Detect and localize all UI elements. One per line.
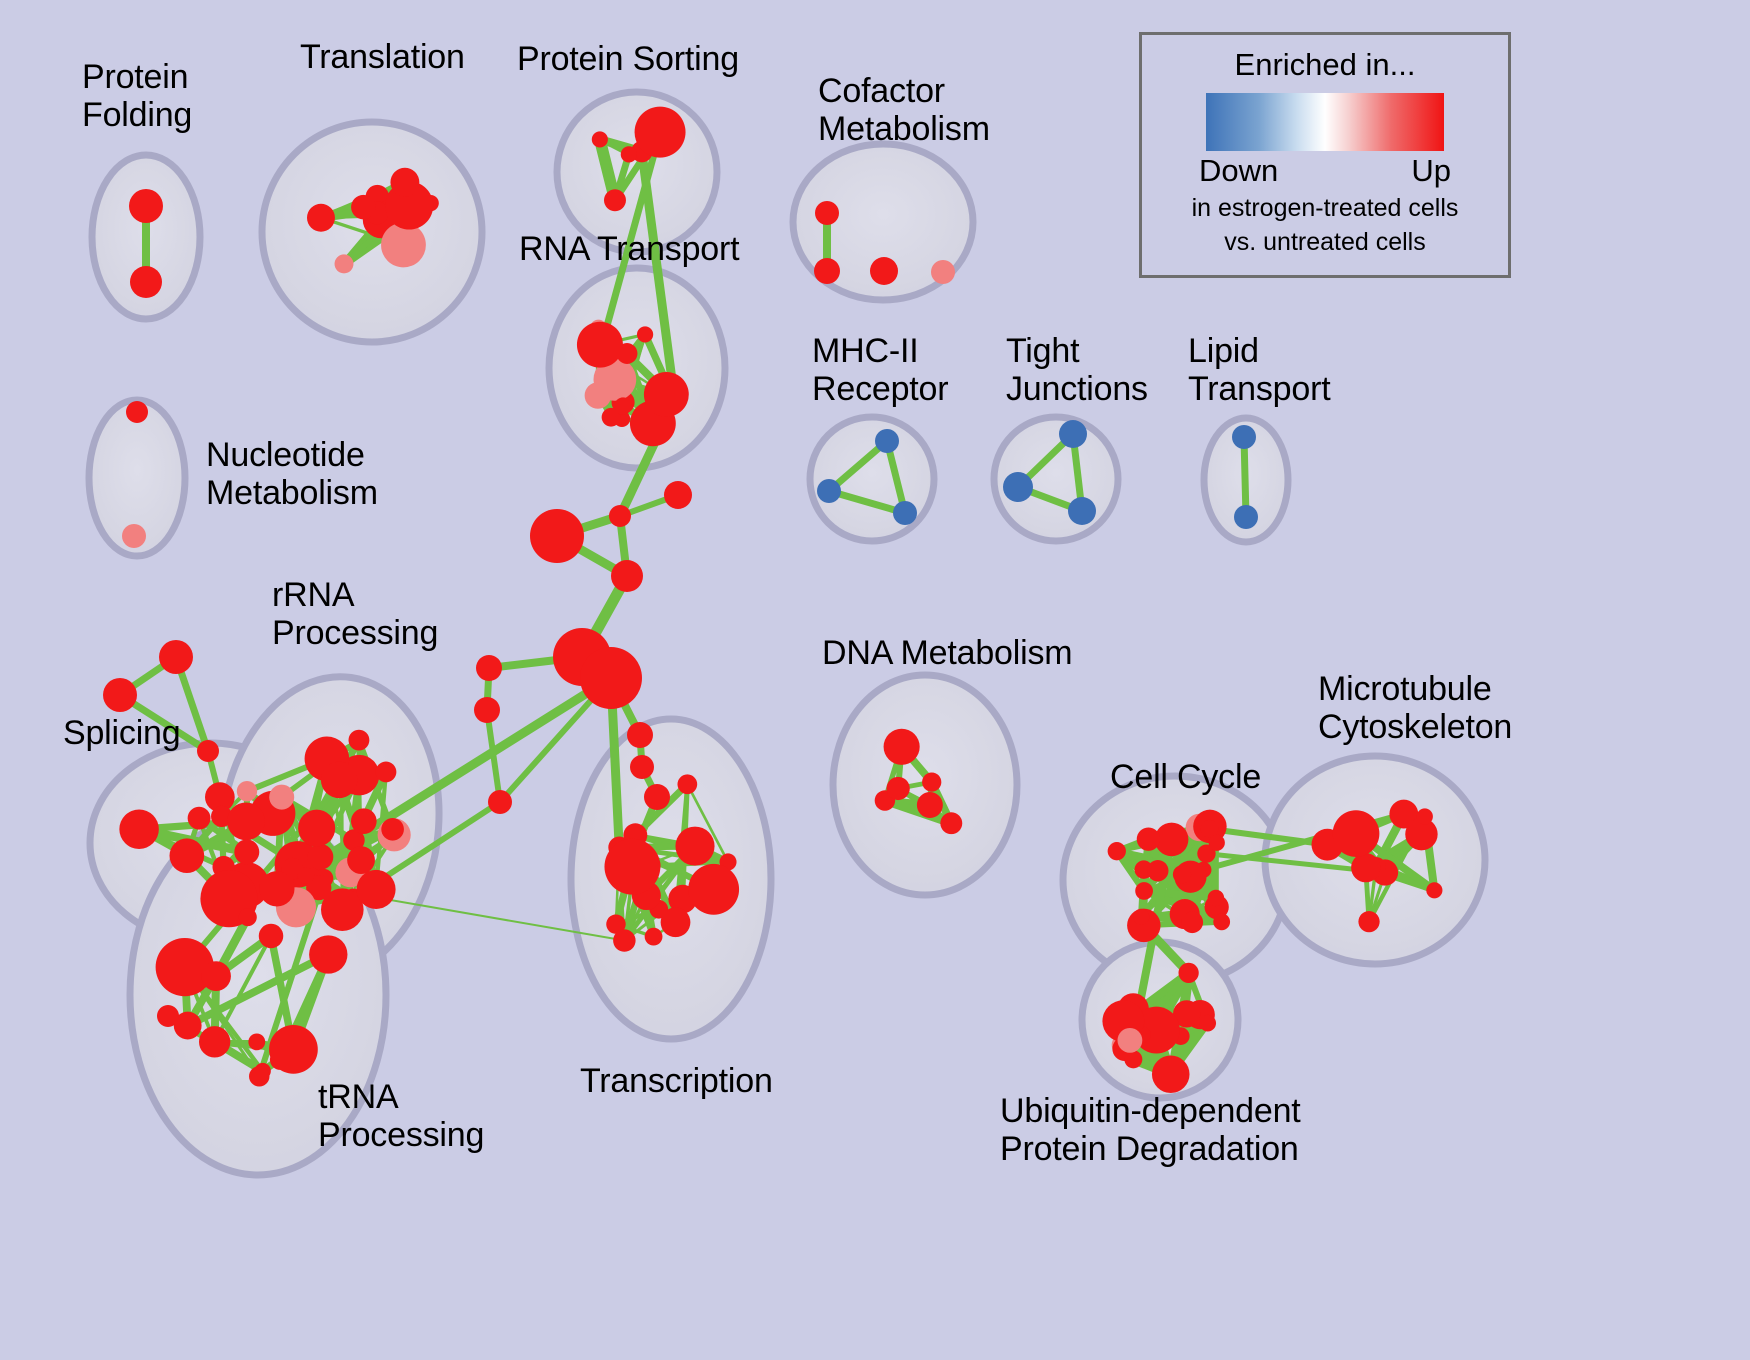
gene-set-node xyxy=(875,429,899,453)
cluster-label-cell-cycle: Cell Cycle xyxy=(1110,758,1261,796)
gene-set-node xyxy=(376,762,397,783)
gene-set-node xyxy=(197,740,219,762)
gene-set-node xyxy=(814,258,840,284)
gene-set-node xyxy=(199,1026,230,1057)
gene-set-node xyxy=(1426,882,1442,898)
gene-set-node xyxy=(1068,497,1096,525)
gene-set-node xyxy=(188,807,211,830)
gene-set-node xyxy=(677,774,697,794)
legend-panel: Enriched in... Down Up in estrogen-treat… xyxy=(1139,32,1511,278)
gene-set-node xyxy=(381,818,404,841)
gene-set-node xyxy=(1209,835,1225,851)
gene-set-node xyxy=(637,326,653,342)
gene-set-node xyxy=(887,777,910,800)
gene-set-node xyxy=(1147,860,1168,881)
gene-set-node xyxy=(1232,425,1256,449)
edge xyxy=(1244,437,1246,517)
gene-set-node xyxy=(1173,865,1191,883)
gene-set-node xyxy=(347,846,375,874)
cluster-label-dna-metabolism: DNA Metabolism xyxy=(822,634,1072,672)
gene-set-node xyxy=(661,907,691,937)
gene-set-node xyxy=(234,839,259,864)
gene-set-node xyxy=(248,1033,265,1050)
gene-set-node xyxy=(321,888,364,931)
gene-set-node xyxy=(644,372,689,417)
gene-set-node xyxy=(259,924,284,949)
gene-set-node xyxy=(675,827,714,866)
legend-caption-line2: vs. untreated cells xyxy=(1142,227,1508,257)
cluster-label-rna-transport: RNA Transport xyxy=(519,230,739,268)
gene-set-node xyxy=(630,755,654,779)
gene-set-node xyxy=(170,838,205,873)
gene-set-node xyxy=(1333,810,1380,857)
gene-set-node xyxy=(1003,472,1033,502)
gene-set-node xyxy=(1178,963,1198,983)
gene-set-node xyxy=(611,560,643,592)
cluster-hull-mhc-ii-receptor xyxy=(810,417,934,541)
gene-set-node xyxy=(307,204,335,232)
gene-set-node xyxy=(604,189,626,211)
cluster-label-splicing: Splicing xyxy=(63,714,180,752)
gene-set-node xyxy=(1059,420,1087,448)
gene-set-node xyxy=(1417,808,1433,824)
gene-set-node xyxy=(1108,842,1126,860)
gene-set-node xyxy=(335,254,354,273)
gene-set-node xyxy=(298,810,335,847)
cluster-label-trna-processing: tRNA Processing xyxy=(318,1078,484,1154)
gene-set-node xyxy=(351,808,377,834)
gene-set-node xyxy=(613,929,635,951)
gene-set-node xyxy=(129,189,163,223)
gene-set-node xyxy=(644,784,670,810)
gene-set-node xyxy=(307,844,333,870)
gene-set-node xyxy=(1152,1055,1190,1093)
gene-set-node xyxy=(688,864,739,915)
gene-set-node xyxy=(321,762,357,798)
gene-set-node xyxy=(627,722,653,748)
gene-set-node xyxy=(269,785,294,810)
gene-set-node xyxy=(1124,1050,1142,1068)
cluster-label-translation: Translation xyxy=(300,38,465,76)
cluster-label-mhc-ii-receptor: MHC-II Receptor xyxy=(812,332,948,408)
gene-set-node xyxy=(893,501,917,525)
gene-set-node xyxy=(1351,853,1380,882)
legend-title: Enriched in... xyxy=(1142,47,1508,83)
gene-set-node xyxy=(390,168,419,197)
gene-set-node xyxy=(309,935,347,973)
gene-set-node xyxy=(609,505,631,527)
cluster-label-lipid-transport: Lipid Transport xyxy=(1188,332,1330,408)
gene-set-node xyxy=(917,792,943,818)
enrichment-map-figure: Protein FoldingTranslationProtein Sortin… xyxy=(0,0,1750,1360)
gene-set-node xyxy=(577,322,623,368)
gene-set-node xyxy=(159,640,193,674)
gene-set-node xyxy=(530,509,584,563)
cluster-label-protein-sorting: Protein Sorting xyxy=(517,40,739,78)
cluster-label-tight-junctions: Tight Junctions xyxy=(1006,332,1148,408)
cluster-label-rrna-processing: rRNA Processing xyxy=(272,576,438,652)
gene-set-node xyxy=(239,908,257,926)
gene-set-node xyxy=(119,809,158,848)
gene-set-node xyxy=(1135,882,1153,900)
legend-high-label: Up xyxy=(1411,153,1451,189)
gene-set-node xyxy=(815,201,839,225)
gene-set-node xyxy=(884,729,920,765)
gene-set-node xyxy=(940,812,962,834)
legend-caption-line1: in estrogen-treated cells xyxy=(1142,193,1508,223)
gene-set-node xyxy=(126,401,148,423)
cluster-label-ubiquitin-protein-degradation: Ubiquitin-dependent Protein Degradation xyxy=(1000,1092,1301,1168)
gene-set-node xyxy=(635,107,686,158)
gene-set-node xyxy=(592,131,608,147)
gene-set-node xyxy=(1213,913,1230,930)
gene-set-node xyxy=(488,790,512,814)
gene-set-node xyxy=(1181,911,1203,933)
gene-set-node xyxy=(157,1005,179,1027)
gene-set-node xyxy=(237,781,257,801)
gene-set-node xyxy=(249,1066,269,1086)
gene-set-node xyxy=(351,195,375,219)
gene-set-node xyxy=(357,870,396,909)
gene-set-node xyxy=(349,730,370,751)
cluster-label-transcription: Transcription xyxy=(580,1062,773,1100)
gene-set-node xyxy=(227,802,265,840)
gene-set-node xyxy=(870,257,898,285)
gene-set-node xyxy=(580,647,642,709)
cluster-label-nucleotide-metabolism: Nucleotide Metabolism xyxy=(206,436,378,512)
gene-set-node xyxy=(614,397,631,414)
gene-set-node xyxy=(664,481,692,509)
gene-set-node xyxy=(130,266,162,298)
gene-set-node xyxy=(103,678,137,712)
cluster-label-protein-folding: Protein Folding xyxy=(82,58,192,134)
gene-set-node xyxy=(621,146,637,162)
legend-low-label: Down xyxy=(1199,153,1278,189)
gene-set-node xyxy=(931,260,955,284)
gene-set-node xyxy=(476,655,502,681)
gene-set-node xyxy=(1234,505,1258,529)
gene-set-node xyxy=(1358,911,1379,932)
gene-set-node xyxy=(645,928,663,946)
gene-set-node xyxy=(604,839,660,895)
gene-set-node xyxy=(201,961,231,991)
gene-set-node xyxy=(585,382,612,409)
gene-set-node xyxy=(122,524,146,548)
cluster-label-microtubule-cytoskeleton: Microtubule Cytoskeleton xyxy=(1318,670,1512,746)
gene-set-node xyxy=(1199,1015,1216,1032)
gene-set-node xyxy=(1133,909,1149,925)
legend-color-gradient xyxy=(1206,93,1444,151)
gene-set-node xyxy=(269,1025,318,1074)
cluster-label-cofactor-metabolism: Cofactor Metabolism xyxy=(818,72,990,148)
gene-set-node xyxy=(922,772,941,791)
gene-set-node xyxy=(1208,890,1224,906)
gene-set-node xyxy=(298,867,315,884)
gene-set-node xyxy=(381,223,426,268)
gene-set-node xyxy=(474,697,500,723)
gene-set-node xyxy=(1118,1028,1143,1053)
gene-set-node xyxy=(1137,827,1160,850)
gene-set-node xyxy=(817,479,841,503)
gene-set-node xyxy=(259,871,294,906)
